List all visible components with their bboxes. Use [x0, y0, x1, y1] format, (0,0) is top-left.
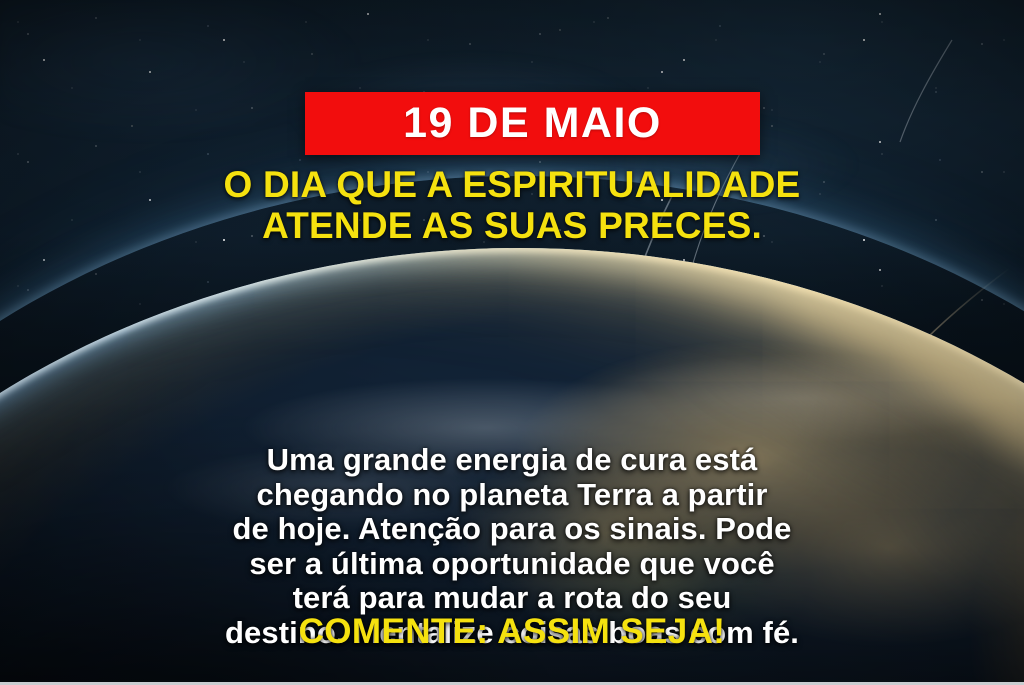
content-layer: 19 DE MAIO O DIA QUE A ESPIRITUALIDADE A… [0, 0, 1024, 685]
headline: O DIA QUE A ESPIRITUALIDADE ATENDE AS SU… [0, 165, 1024, 246]
poster-canvas: 19 DE MAIO O DIA QUE A ESPIRITUALIDADE A… [0, 0, 1024, 685]
call-to-action-text: COMENTE: ASSIM SEJA! [0, 614, 1024, 649]
date-banner-text: 19 DE MAIO [403, 102, 662, 145]
headline-line-1: O DIA QUE A ESPIRITUALIDADE [44, 165, 980, 206]
body-line-1: Uma grande energia de cura está [40, 443, 984, 478]
headline-line-2: ATENDE AS SUAS PRECES. [44, 206, 980, 247]
body-line-4: ser a última oportunidade que você [40, 547, 984, 582]
body-line-3: de hoje. Atenção para os sinais. Pode [40, 512, 984, 547]
body-line-5: terá para mudar a rota do seu [40, 581, 984, 616]
body-line-2: chegando no planeta Terra a partir [40, 478, 984, 513]
date-banner: 19 DE MAIO [305, 92, 760, 155]
